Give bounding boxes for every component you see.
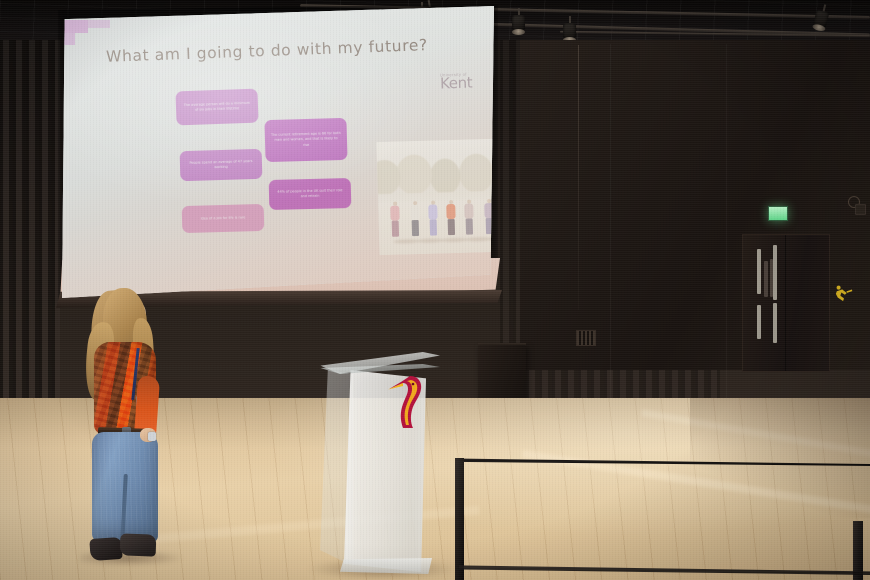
slide-bubble-1: The average person will do a minimum of … [175,89,258,126]
door-inlay-5 [757,305,761,339]
door-inlay-4 [770,259,773,297]
wall-seam-2 [726,44,727,400]
foreground-railing-barrier [455,455,870,580]
photo-person [390,201,400,236]
university-of-kent-logo: University of Kent [440,72,473,91]
hanging-cable [578,45,579,310]
running-man-exit-icon [833,284,855,302]
exit-door[interactable] [742,234,830,372]
presenter-boot-right [120,533,157,556]
photo-person [428,200,438,235]
wall-seam-1 [610,44,611,400]
heron-bird-logo-icon [380,370,426,434]
door-center-split [785,235,786,371]
railing-lower-bar [459,563,870,575]
slide-bubble-4: 44% of people in the UK quit their role … [269,178,352,210]
photo-tree-line [376,149,494,194]
slide-photo-students-walking [376,138,494,255]
slide-bubble-3: People spend an average of 47 years work… [180,149,263,181]
acrylic-lectern [318,352,446,580]
stage-drape-left [0,40,60,400]
presenter-person [78,288,188,580]
railing-post-right [853,521,863,580]
emergency-exit-sign-icon [768,206,788,221]
railing-top-bar [455,455,870,466]
railing-post-left [455,458,464,580]
speaker-cabinet [478,345,526,403]
door-inlay-2 [773,245,777,300]
door-inlay-1 [757,249,761,294]
presenter-clicker-remote [148,432,156,441]
photo-person [410,201,420,236]
slide-title: What am I going to do with my future? [106,36,428,66]
photo-person [464,199,474,234]
door-inlay-3 [764,261,768,297]
projection-screen: What am I going to do with my future? Un… [62,6,494,298]
lecture-hall-photo: What am I going to do with my future? Un… [0,0,870,580]
wall-plate [855,204,866,215]
spotlight-2 [512,8,525,35]
lectern-base [340,558,432,574]
spotlight-3 [563,16,576,43]
presenter-boot-left [89,537,122,561]
wall-vent-grille [576,330,596,346]
door-inlay-6 [773,303,777,343]
slide-surface: What am I going to do with my future? Un… [62,6,494,298]
logo-line-kent: Kent [440,77,472,91]
slide-bubble-2: The current retirement age is 66 for bot… [264,118,347,162]
photo-person [446,200,456,235]
slide-bubble-5: Idea of a job for life is rare [182,204,265,233]
